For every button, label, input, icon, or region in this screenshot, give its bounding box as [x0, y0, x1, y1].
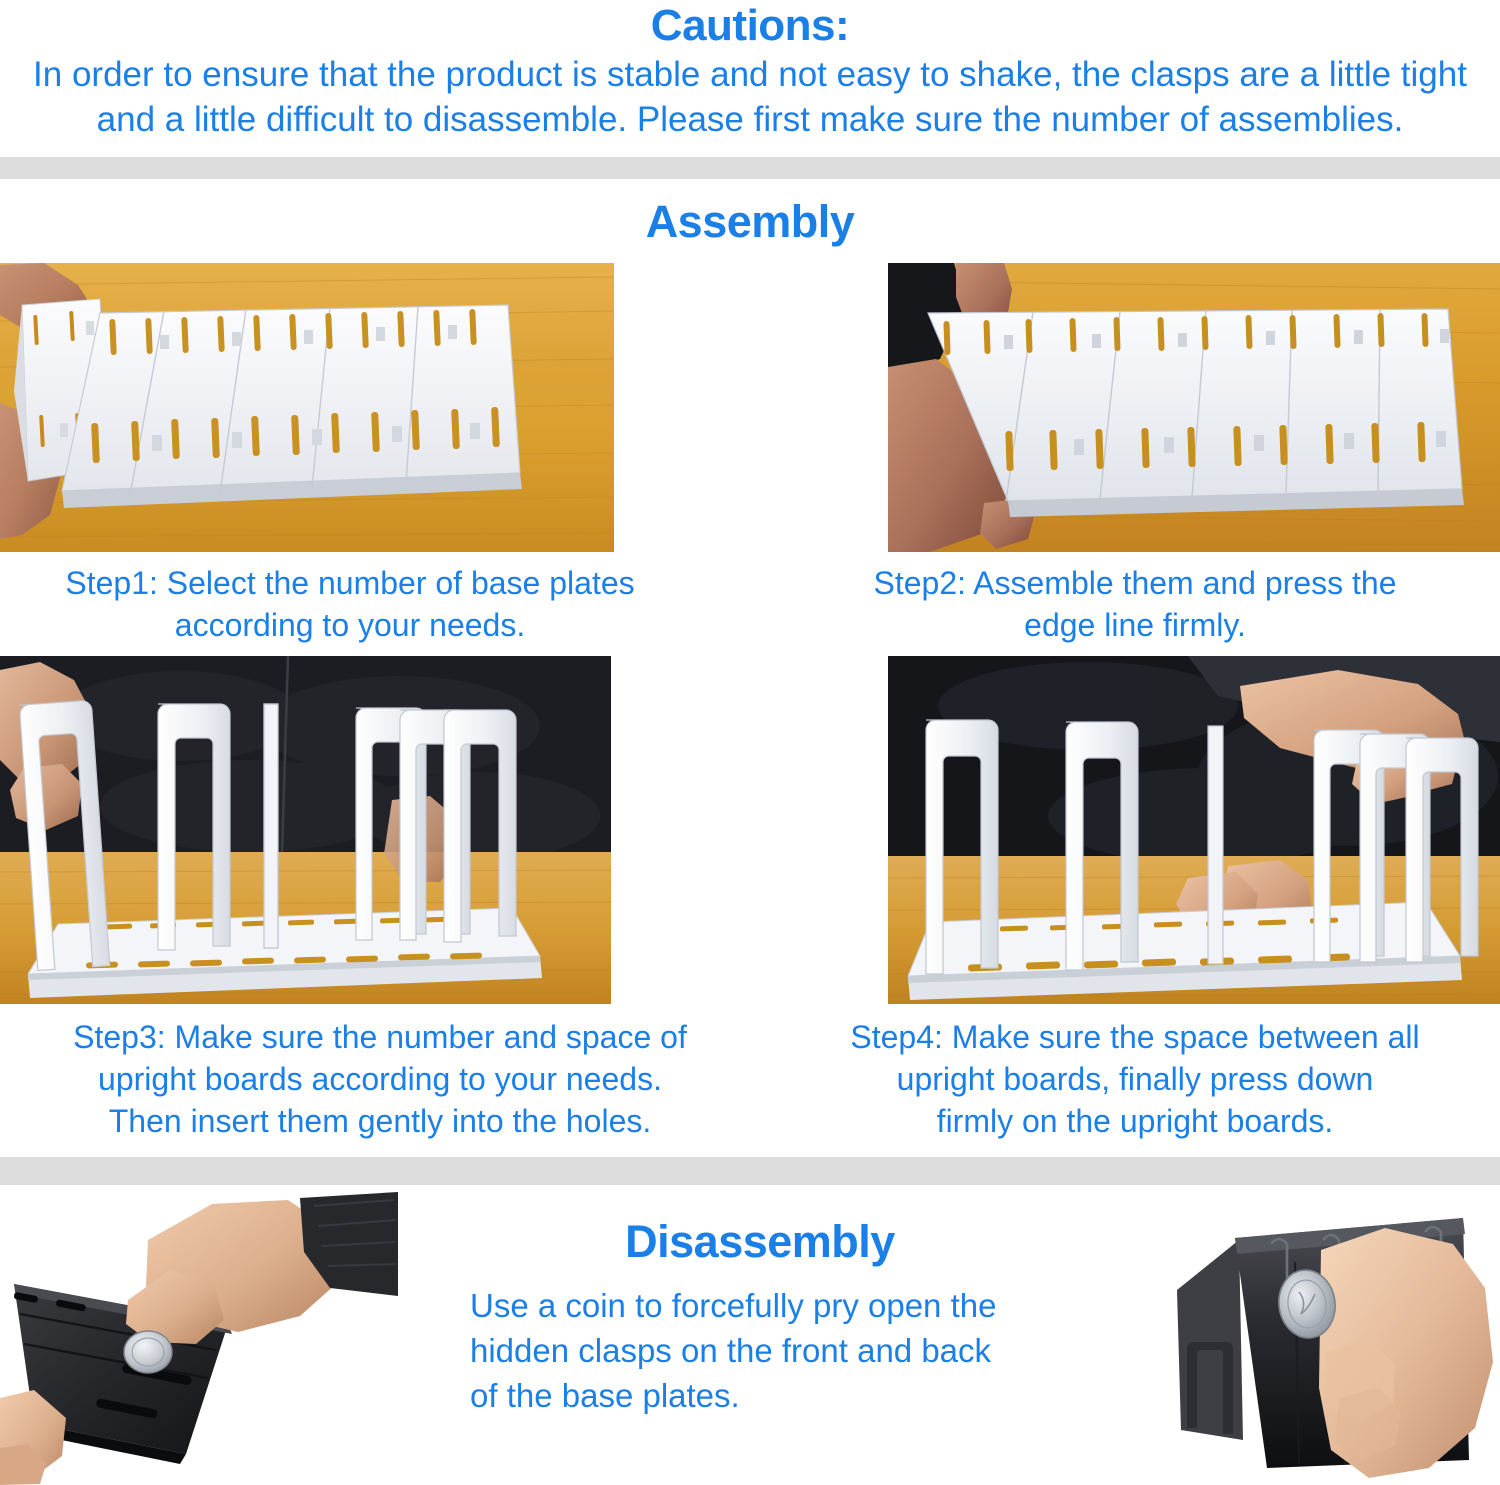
- step2-caption-line1: Step2: Assemble them and press the: [874, 565, 1397, 601]
- step1-photo: [0, 263, 614, 552]
- step1-caption-line2: according to your needs.: [0, 604, 700, 646]
- disassembly-body-line1: Use a coin to forcefully pry open the: [470, 1287, 996, 1324]
- disassembly-left-photo: [0, 1192, 398, 1485]
- step2-photo: [888, 263, 1500, 552]
- step3-caption: Step3: Make sure the number and space of…: [0, 1016, 760, 1142]
- disassembly-right-photo: [1163, 1192, 1500, 1485]
- step3-caption-line2: upright boards according to your needs.: [0, 1058, 760, 1100]
- cautions-title: Cautions:: [0, 2, 1500, 50]
- instruction-infographic: Cautions: In order to ensure that the pr…: [0, 0, 1500, 1485]
- section-divider-bottom: [0, 1157, 1500, 1185]
- assembly-title: Assembly: [0, 196, 1500, 248]
- step4-caption-line1: Step4: Make sure the space between all: [850, 1019, 1419, 1055]
- step4-caption-line2: upright boards, finally press down: [770, 1058, 1500, 1100]
- section-divider-top: [0, 157, 1500, 179]
- step3-caption-line3: Then insert them gently into the holes.: [0, 1100, 760, 1142]
- disassembly-body-text: Use a coin to forcefully pry open the hi…: [470, 1283, 1080, 1418]
- step3-caption-line1: Step3: Make sure the number and space of: [73, 1019, 687, 1055]
- step4-caption: Step4: Make sure the space between all u…: [770, 1016, 1500, 1142]
- step4-caption-line3: firmly on the upright boards.: [770, 1100, 1500, 1142]
- disassembly-body-line3: of the base plates.: [470, 1377, 740, 1414]
- step2-caption-line2: edge line firmly.: [790, 604, 1480, 646]
- step1-caption: Step1: Select the number of base plates …: [0, 562, 700, 646]
- step4-photo: [888, 656, 1500, 1004]
- cautions-body-text: In order to ensure that the product is s…: [18, 52, 1482, 142]
- step2-caption: Step2: Assemble them and press the edge …: [790, 562, 1480, 646]
- step3-photo: [0, 656, 611, 1004]
- step1-caption-line1: Step1: Select the number of base plates: [65, 565, 634, 601]
- disassembly-body-line2: hidden clasps on the front and back: [470, 1332, 991, 1369]
- disassembly-title: Disassembly: [420, 1216, 1100, 1268]
